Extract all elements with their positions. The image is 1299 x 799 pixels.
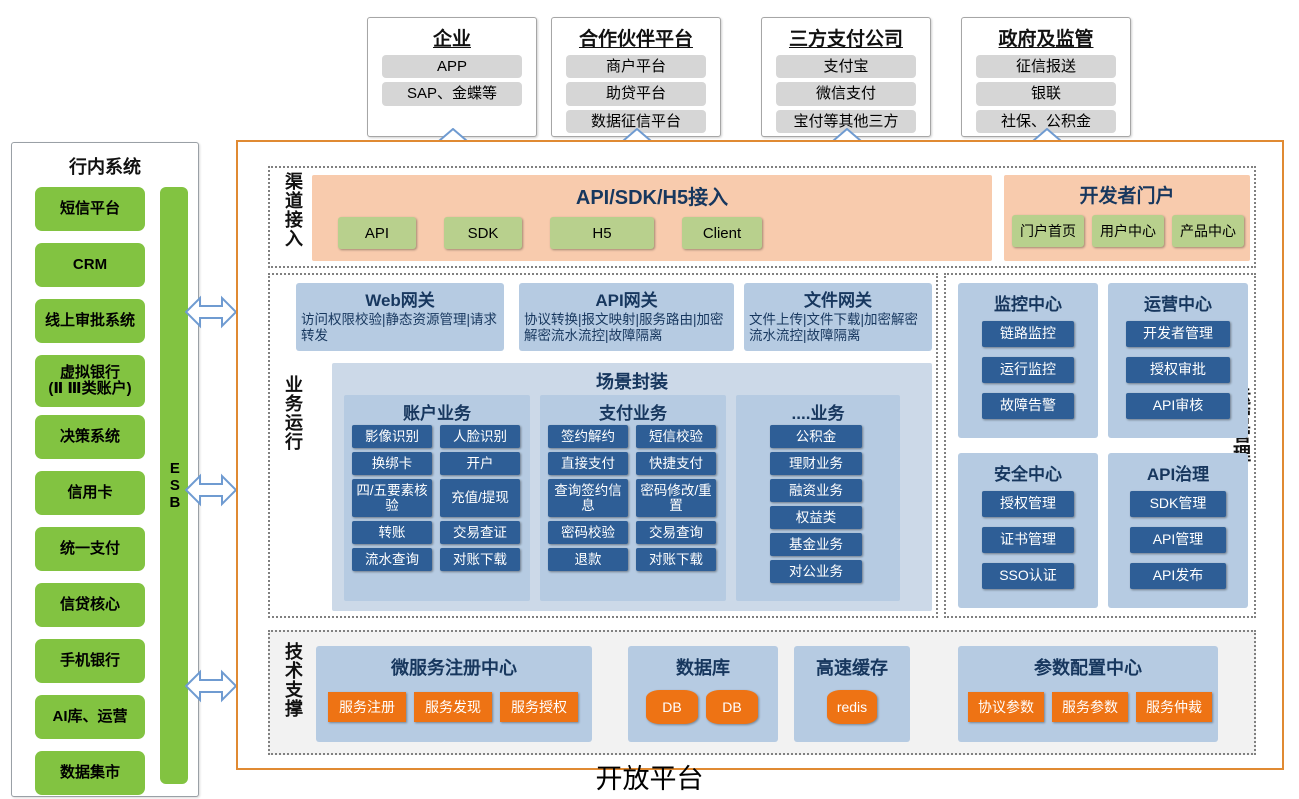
chip-reconcile-download[interactable]: 对账下载 [440,548,520,571]
tech-card-param-config[interactable]: 参数配置中心 协议参数 服务参数 服务仲裁 [958,646,1218,742]
scene-encapsulation-card: 场景封装 账户业务 影像识别 换绑卡 四/五要素核验 转账 流水查询 人脸识别 … [332,363,932,611]
chip-portal-home[interactable]: 门户首页 [1012,215,1084,247]
bank-item-sms[interactable]: 短信平台 [35,187,145,231]
ops-card-title: 运营中心 [1108,290,1248,315]
bank-item-decision[interactable]: 决策系统 [35,415,145,459]
db-cylinder-2[interactable]: DB [706,690,758,724]
chip-reconcile-download-2[interactable]: 对账下载 [636,548,716,571]
ops-card-api-governance[interactable]: API治理 SDK管理 API管理 API发布 [1108,453,1248,608]
chip-face-recognition[interactable]: 人脸识别 [440,425,520,448]
ops-card-items: SDK管理 API管理 API发布 [1130,491,1226,589]
top-box-title: 合作伙伴平台 [552,24,720,51]
chip-api-publish[interactable]: API发布 [1130,563,1226,589]
ops-card-title: 监控中心 [958,290,1098,315]
chip-runtime-monitor[interactable]: 运行监控 [982,357,1074,383]
chip-quick-payment[interactable]: 快捷支付 [636,452,716,475]
top-box-government-regulator[interactable]: 政府及监管 征信报送 银联 社保、公积金 [961,17,1131,137]
chip-four-five-element[interactable]: 四/五要素核验 [352,479,432,517]
developer-portal-chips: 门户首页 用户中心 产品中心 [1012,215,1244,247]
chip-api-mgmt[interactable]: API管理 [1130,527,1226,553]
top-box-title: 政府及监管 [962,24,1130,51]
chip-sign-unsign[interactable]: 签约解约 [548,425,628,448]
developer-portal-card: 开发者门户 门户首页 用户中心 产品中心 [1004,175,1250,261]
api-sdk-h5-title: API/SDK/H5接入 [312,181,992,210]
chip-developer-mgmt[interactable]: 开发者管理 [1126,321,1230,347]
business-group-columns: 签约解约 直接支付 查询签约信息 密码校验 退款 短信校验 快捷支付 密码修改/… [548,425,716,571]
top-box-partner-platform[interactable]: 合作伙伴平台 商户平台 助贷平台 数据征信平台 [551,17,721,137]
business-group-other: ....业务 公积金 理财业务 融资业务 权益类 基金业务 对公业务 [736,395,900,601]
esb-bus: ESB [160,187,188,784]
tech-card-items: 服务注册 服务发现 服务授权 [328,692,578,722]
business-group-payment: 支付业务 签约解约 直接支付 查询签约信息 密码校验 退款 短信校验 快捷支付 … [540,395,726,601]
tech-support-section: 技术支撑 微服务注册中心 服务注册 服务发现 服务授权 数据库 DB DB 高速… [268,630,1256,755]
chip-sms-verify[interactable]: 短信校验 [636,425,716,448]
developer-portal-title: 开发者门户 [1004,181,1250,208]
scene-encapsulation-title: 场景封装 [332,368,932,394]
api-sdk-h5-access-card: API/SDK/H5接入 API SDK H5 Client [312,175,992,261]
column: 签约解约 直接支付 查询签约信息 密码校验 退款 [548,425,628,571]
chip-transaction-verify[interactable]: 交易查证 [440,521,520,544]
bank-item-mobile-bank[interactable]: 手机银行 [35,639,145,683]
chip-flow-query[interactable]: 流水查询 [352,548,432,571]
arrow-left-right-business [185,470,237,510]
api-sdk-h5-chips: API SDK H5 Client [338,217,762,249]
gateway-title: API网关 [519,286,734,311]
chip-refund[interactable]: 退款 [548,548,628,571]
ops-card-operation[interactable]: 运营中心 开发者管理 授权审批 API审核 [1108,283,1248,438]
top-box-third-party-payment[interactable]: 三方支付公司 支付宝 微信支付 宝付等其他三方 [761,17,931,137]
chip-link-monitor[interactable]: 链路监控 [982,321,1074,347]
ops-card-items: 链路监控 运行监控 故障告警 [982,321,1074,419]
channel-access-section: 渠道接入 API/SDK/H5接入 API SDK H5 Client 开发者门… [268,166,1256,268]
bank-internal-systems-panel: 行内系统 短信平台 CRM 线上审批系统 虚拟银行 (Ⅱ Ⅲ类账户) 决策系统 … [11,142,199,797]
chip-api-review[interactable]: API审核 [1126,393,1230,419]
gateway-title: 文件网关 [744,286,932,311]
gateway-card-api[interactable]: API网关 协议转换|报文映射|服务路由|加密解密流水流控|故障隔离 [519,283,734,351]
chip-rights[interactable]: 权益类 [770,506,862,529]
gateway-desc: 协议转换|报文映射|服务路由|加密解密流水流控|故障隔离 [519,311,734,345]
chip-sdk-mgmt[interactable]: SDK管理 [1130,491,1226,517]
arrow-left-right-tech [185,666,237,706]
chip-open-account[interactable]: 开户 [440,452,520,475]
list-item[interactable]: SAP、金蝶等 [382,82,522,105]
bank-item-unified-payment[interactable]: 统一支付 [35,527,145,571]
chip-client[interactable]: Client [682,217,762,249]
bank-item-virtual-bank[interactable]: 虚拟银行 (Ⅱ Ⅲ类账户) [35,355,145,407]
tech-card-database[interactable]: 数据库 DB DB [628,646,778,742]
column: 短信校验 快捷支付 密码修改/重置 交易查询 对账下载 [636,425,716,571]
chip-cert-mgmt[interactable]: 证书管理 [982,527,1074,553]
ops-card-monitor[interactable]: 监控中心 链路监控 运行监控 故障告警 [958,283,1098,438]
chip-wealth-mgmt[interactable]: 理财业务 [770,452,862,475]
ops-card-title: 安全中心 [958,460,1098,485]
column: 影像识别 换绑卡 四/五要素核验 转账 流水查询 [352,425,432,571]
chip-financing[interactable]: 融资业务 [770,479,862,502]
bank-panel-title: 行内系统 [12,153,198,179]
list-item[interactable]: 助贷平台 [566,82,706,105]
tech-card-title: 高速缓存 [794,654,910,680]
arrow-left-right-channel [185,292,237,332]
gateway-desc: 文件上传|文件下载|加密解密流水流控|故障隔离 [744,311,932,345]
gateway-title: Web网关 [296,286,504,311]
chip-direct-payment[interactable]: 直接支付 [548,452,628,475]
chip-housing-fund[interactable]: 公积金 [770,425,862,448]
top-box-enterprise[interactable]: 企业 APP SAP、金蝶等 [367,17,537,137]
chip-auth-approval[interactable]: 授权审批 [1126,357,1230,383]
list-item[interactable]: APP [382,55,522,78]
chip-product-center[interactable]: 产品中心 [1172,215,1244,247]
chip-transfer[interactable]: 转账 [352,521,432,544]
business-group-columns: 公积金 理财业务 融资业务 权益类 基金业务 对公业务 [770,425,862,583]
chip-api[interactable]: API [338,217,416,249]
business-run-label: 业务运行 [278,375,302,451]
chip-fault-alarm[interactable]: 故障告警 [982,393,1074,419]
gateway-card-web[interactable]: Web网关 访问权限校验|静态资源管理|请求转发 [296,283,504,351]
business-group-title: 支付业务 [540,399,726,424]
ops-card-items: 开发者管理 授权审批 API审核 [1126,321,1230,419]
chip-service-param[interactable]: 服务参数 [1052,692,1128,722]
bank-item-ai-ops[interactable]: AI库、运营 [35,695,145,739]
chip-password-change[interactable]: 密码修改/重置 [636,479,716,517]
chip-user-center[interactable]: 用户中心 [1092,215,1164,247]
list-item[interactable]: 微信支付 [776,82,916,105]
tech-card-items: DB DB [646,690,758,724]
ops-card-items: 授权管理 证书管理 SSO认证 [982,491,1074,589]
column: 人脸识别 开户 充值/提现 交易查证 对账下载 [440,425,520,571]
chip-corporate[interactable]: 对公业务 [770,560,862,583]
chip-service-arbitration[interactable]: 服务仲裁 [1136,692,1212,722]
bank-item-credit-core[interactable]: 信贷核心 [35,583,145,627]
gateway-card-file[interactable]: 文件网关 文件上传|文件下载|加密解密流水流控|故障隔离 [744,283,932,351]
chip-service-authorize[interactable]: 服务授权 [500,692,578,722]
business-group-title: ....业务 [736,399,900,424]
chip-service-discovery[interactable]: 服务发现 [414,692,492,722]
chip-auth-mgmt[interactable]: 授权管理 [982,491,1074,517]
ops-card-title: API治理 [1108,460,1248,485]
redis-cylinder[interactable]: redis [827,690,877,724]
gateway-desc: 访问权限校验|静态资源管理|请求转发 [296,311,504,345]
chip-service-register[interactable]: 服务注册 [328,692,406,722]
top-box-title: 企业 [368,24,536,51]
tech-card-microservice-registry[interactable]: 微服务注册中心 服务注册 服务发现 服务授权 [316,646,592,742]
tech-card-items: 协议参数 服务参数 服务仲裁 [968,692,1212,722]
top-box-items: APP SAP、金蝶等 [368,55,536,114]
tech-card-title: 微服务注册中心 [316,654,592,680]
business-group-title: 账户业务 [344,399,530,424]
chip-sso-auth[interactable]: SSO认证 [982,563,1074,589]
business-group-account: 账户业务 影像识别 换绑卡 四/五要素核验 转账 流水查询 人脸识别 开户 充值… [344,395,530,601]
list-item[interactable]: 征信报送 [976,55,1116,78]
channel-access-label: 渠道接入 [278,172,302,264]
business-run-section: 业务运行 Web网关 访问权限校验|静态资源管理|请求转发 API网关 协议转换… [268,273,938,618]
chip-recharge-withdraw[interactable]: 充值/提现 [440,479,520,517]
chip-query-sign-info[interactable]: 查询签约信息 [548,479,628,517]
operations-management-section: 运营管理 监控中心 链路监控 运行监控 故障告警 运营中心 开发者管理 授权审批… [944,273,1256,618]
db-cylinder-1[interactable]: DB [646,690,698,724]
chip-protocol-param[interactable]: 协议参数 [968,692,1044,722]
bank-item-crm[interactable]: CRM [35,243,145,287]
tech-card-title: 数据库 [628,654,778,680]
esb-label: ESB [165,460,184,511]
top-box-title: 三方支付公司 [762,24,930,51]
chip-image-recognition[interactable]: 影像识别 [352,425,432,448]
chip-rebind-card[interactable]: 换绑卡 [352,452,432,475]
bank-item-credit-card[interactable]: 信用卡 [35,471,145,515]
tech-card-title: 参数配置中心 [958,654,1218,680]
list-item[interactable]: 银联 [976,82,1116,105]
bank-item-approval[interactable]: 线上审批系统 [35,299,145,343]
page-title: 开放平台 [0,757,1299,796]
list-item[interactable]: 支付宝 [776,55,916,78]
list-item[interactable]: 商户平台 [566,55,706,78]
chip-fund-business[interactable]: 基金业务 [770,533,862,556]
chip-transaction-query[interactable]: 交易查询 [636,521,716,544]
business-group-columns: 影像识别 换绑卡 四/五要素核验 转账 流水查询 人脸识别 开户 充值/提现 交… [352,425,520,571]
tech-card-cache[interactable]: 高速缓存 redis [794,646,910,742]
chip-password-verify[interactable]: 密码校验 [548,521,628,544]
tech-card-items: redis [827,690,877,724]
tech-support-label: 技术支撑 [278,642,302,718]
ops-card-security[interactable]: 安全中心 授权管理 证书管理 SSO认证 [958,453,1098,608]
chip-sdk[interactable]: SDK [444,217,522,249]
chip-h5[interactable]: H5 [550,217,654,249]
